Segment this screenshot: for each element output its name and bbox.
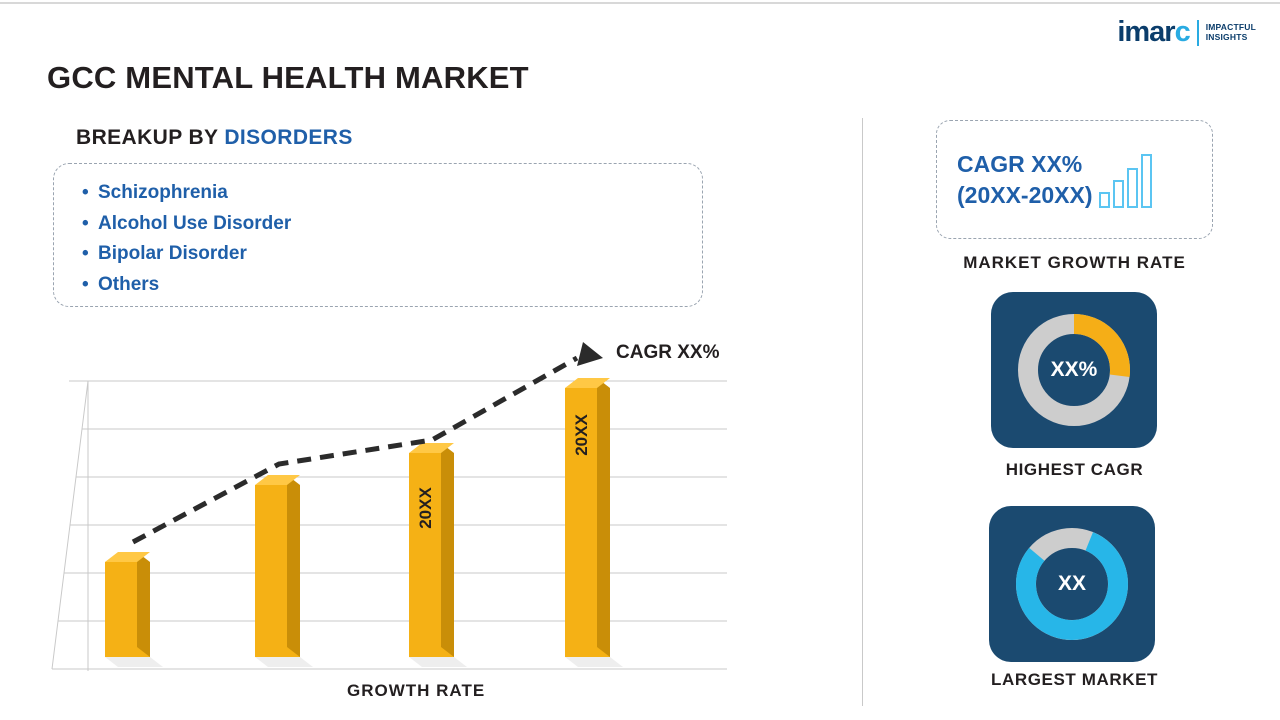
caption-largest-market: LARGEST MARKET <box>936 670 1213 690</box>
logo-divider <box>1197 20 1199 46</box>
breakup-list: Schizophrenia Alcohol Use Disorder Bipol… <box>82 178 674 300</box>
donut-highest-value: XX% <box>1015 311 1133 429</box>
caption-highest-cagr: HIGHEST CAGR <box>936 460 1213 480</box>
slide-root: imarc IMPACTFUL INSIGHTS GCC MENTAL HEAL… <box>0 0 1280 720</box>
bar-2 <box>255 475 313 667</box>
logo-tagline: IMPACTFUL INSIGHTS <box>1206 23 1256 43</box>
breakup-heading-static: BREAKUP BY <box>76 126 224 149</box>
donut-highest-cagr: XX% <box>1015 311 1133 429</box>
imarc-logo: imarc IMPACTFUL INSIGHTS <box>1117 18 1256 47</box>
list-item: Alcohol Use Disorder <box>82 209 674 240</box>
highest-cagr-card: XX% <box>991 292 1157 448</box>
caption-market-growth-rate: MARKET GROWTH RATE <box>936 253 1213 273</box>
breakup-box: Schizophrenia Alcohol Use Disorder Bipol… <box>53 163 703 307</box>
donut-largest-value: XX <box>1013 525 1131 643</box>
chart-cagr-label: CAGR XX% <box>616 342 719 364</box>
list-item: Bipolar Disorder <box>82 239 674 270</box>
logo-word-left: imar <box>1117 16 1174 48</box>
breakup-heading: BREAKUP BY DISORDERS <box>76 126 353 150</box>
market-growth-rate-box: CAGR XX% (20XX-20XX) <box>936 120 1213 239</box>
bar-4: 20XX <box>565 378 623 667</box>
list-item: Schizophrenia <box>82 178 674 209</box>
top-divider <box>0 2 1280 4</box>
logo-wordmark: imarc <box>1117 18 1189 47</box>
list-item: Others <box>82 270 674 301</box>
donut-largest-market: XX <box>1013 525 1131 643</box>
bar-chart-icon <box>1099 152 1152 208</box>
page-title: GCC MENTAL HEALTH MARKET <box>47 60 529 96</box>
cagr-text: CAGR XX% (20XX-20XX) <box>957 149 1093 211</box>
logo-word-accent: c <box>1175 16 1190 48</box>
chart-x-axis-label: GROWTH RATE <box>347 681 485 701</box>
largest-market-card: XX <box>989 506 1155 662</box>
logo-tagline-line2: INSIGHTS <box>1206 33 1256 43</box>
chart-gridlines <box>52 381 727 671</box>
growth-rate-chart: 20XX 20XX <box>47 330 847 710</box>
bar-1 <box>105 552 163 667</box>
breakup-heading-accent: DISORDERS <box>224 126 352 149</box>
vertical-divider <box>862 118 863 706</box>
trend-line <box>133 342 603 542</box>
cagr-line-2: (20XX-20XX) <box>957 180 1093 211</box>
bar-label-4: 20XX <box>572 414 591 456</box>
bar-label-3: 20XX <box>416 487 435 529</box>
cagr-line-1: CAGR XX% <box>957 149 1093 180</box>
